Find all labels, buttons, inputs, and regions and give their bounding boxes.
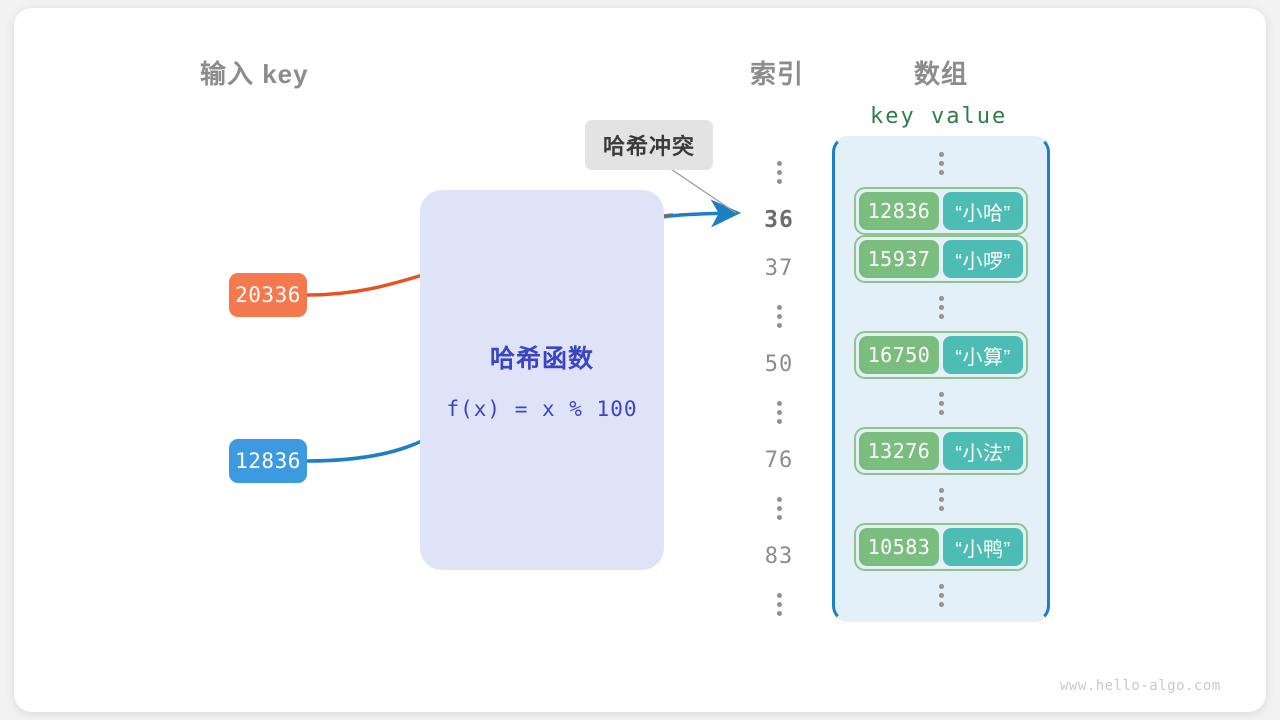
watermark: www.hello-algo.com	[1060, 678, 1221, 694]
index-value: 50	[739, 340, 819, 388]
index-value: 76	[739, 436, 819, 484]
input-key-value: 20336	[235, 283, 301, 307]
bucket-key: 10583	[859, 528, 939, 566]
key-value-pair[interactable]: 15937“小啰”	[854, 235, 1028, 283]
vertical-ellipsis-icon	[777, 497, 782, 520]
bucket-value: “小法”	[943, 432, 1023, 470]
index-value: 83	[739, 532, 819, 580]
bucket-key: 15937	[859, 240, 939, 278]
bucket-value: “小哈”	[943, 192, 1023, 230]
input-key-chip-12836[interactable]: 12836	[229, 439, 307, 483]
vertical-ellipsis-icon	[777, 401, 782, 424]
key-value-pair[interactable]: 13276“小法”	[854, 427, 1028, 475]
vertical-ellipsis-icon	[939, 392, 944, 415]
index-value: 37	[739, 244, 819, 292]
vertical-ellipsis-icon	[939, 296, 944, 319]
vertical-ellipsis-icon	[939, 584, 944, 607]
key-value-pair[interactable]: 16750“小算”	[854, 331, 1028, 379]
array-ellipsis	[939, 571, 944, 619]
vertical-ellipsis-icon	[777, 305, 782, 328]
array-ellipsis	[939, 379, 944, 427]
index-ellipsis	[739, 292, 819, 340]
array-container: 12836“小哈”15937“小啰”16750“小算”13276“小法”1058…	[832, 136, 1050, 622]
bucket-key: 16750	[859, 336, 939, 374]
key-value-pair[interactable]: 12836“小哈”	[854, 187, 1028, 235]
hash-function-title: 哈希函数	[490, 339, 594, 375]
diagram-canvas: 输入 key 索引 数组 key value	[14, 8, 1266, 712]
index-column: 3637507683	[739, 148, 819, 628]
hash-function-formula: f(x) = x % 100	[446, 397, 637, 421]
vertical-ellipsis-icon	[777, 161, 782, 184]
input-key-value: 12836	[235, 449, 301, 473]
vertical-ellipsis-icon	[777, 593, 782, 616]
bucket-key: 12836	[859, 192, 939, 230]
input-key-chip-20336[interactable]: 20336	[229, 273, 307, 317]
bucket-key: 13276	[859, 432, 939, 470]
hash-function-box: 哈希函数 f(x) = x % 100	[420, 190, 664, 570]
index-value: 36	[739, 196, 819, 244]
bucket-value: “小啰”	[943, 240, 1023, 278]
array-bucket[interactable]: 15937“小啰”	[854, 235, 1028, 283]
collision-leader-line	[665, 165, 736, 213]
hash-collision-label: 哈希冲突	[585, 120, 713, 170]
index-number: 76	[765, 448, 794, 473]
vertical-ellipsis-icon	[939, 152, 944, 175]
index-ellipsis	[739, 484, 819, 532]
index-ellipsis	[739, 388, 819, 436]
array-ellipsis	[939, 139, 944, 187]
index-number: 36	[764, 207, 794, 233]
index-ellipsis	[739, 148, 819, 196]
bucket-value: “小算”	[943, 336, 1023, 374]
array-bucket[interactable]: 12836“小哈”	[854, 187, 1028, 235]
index-number: 50	[765, 352, 794, 377]
array-bucket[interactable]: 10583“小鸭”	[854, 523, 1028, 571]
index-ellipsis	[739, 580, 819, 628]
array-ellipsis	[939, 475, 944, 523]
index-number: 37	[765, 256, 794, 281]
array-bucket[interactable]: 16750“小算”	[854, 331, 1028, 379]
array-ellipsis	[939, 283, 944, 331]
array-bucket[interactable]: 13276“小法”	[854, 427, 1028, 475]
bucket-value: “小鸭”	[943, 528, 1023, 566]
vertical-ellipsis-icon	[939, 488, 944, 511]
key-value-pair[interactable]: 10583“小鸭”	[854, 523, 1028, 571]
index-number: 83	[765, 544, 794, 569]
